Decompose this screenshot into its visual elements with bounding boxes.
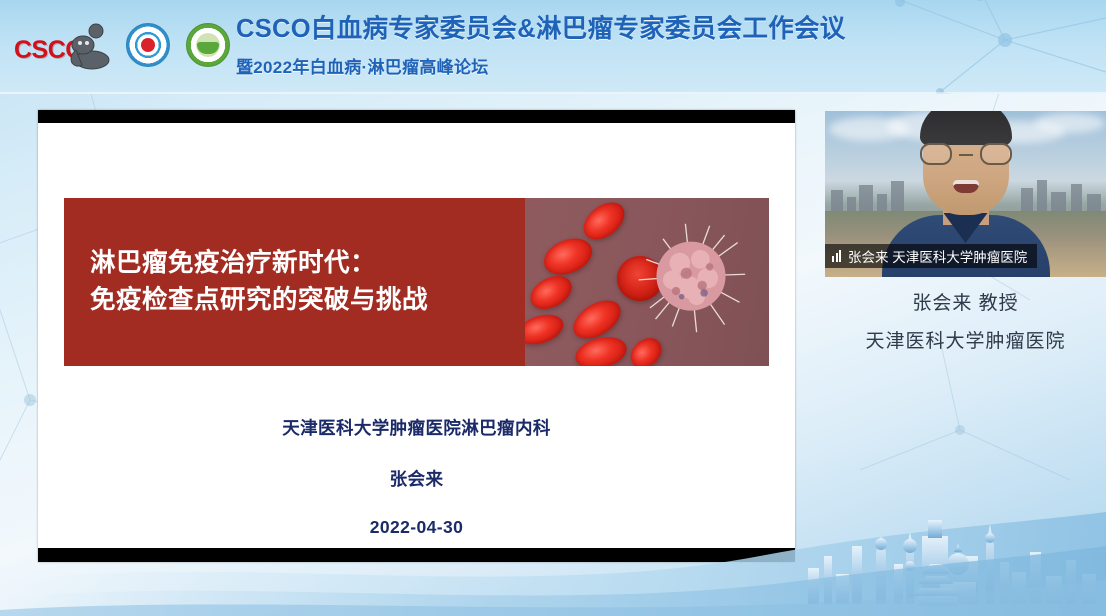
blood-cells-image (525, 198, 769, 366)
video-name-text: 张会来 天津医科大学肿瘤医院 (848, 246, 1027, 266)
committee-seal-blue-icon (126, 23, 170, 67)
header-title-block: CSCO白血病专家委员会&淋巴瘤专家委员会工作会议 暨2022年白血病·淋巴瘤高… (236, 14, 846, 78)
header-divider (0, 92, 1106, 94)
signal-bars-icon (832, 250, 841, 262)
logo-group: CSCO (14, 16, 230, 74)
slide-frame: 淋巴瘤免疫治疗新时代： 免疫检查点研究的突破与挑战 (38, 110, 795, 562)
csco-logo: CSCO (14, 16, 110, 74)
eyeglasses-right-icon (980, 143, 1012, 165)
conference-title: CSCO白血病专家委员会&淋巴瘤专家委员会工作会议 (236, 14, 846, 46)
speaker-video-panel[interactable]: 张会来 天津医科大学肿瘤医院 (825, 111, 1106, 277)
presentation-stage: CSCO CSCO白血病专家委员会&淋巴瘤专家委员会工作会议 (0, 0, 1106, 616)
conference-header: CSCO CSCO白血病专家委员会&淋巴瘤专家委员会工作会议 (0, 0, 1106, 94)
slide-date: 2022-04-30 (38, 517, 795, 538)
conference-subtitle: 暨2022年白血病·淋巴瘤高峰论坛 (236, 53, 846, 78)
eyeglasses-left-icon (920, 143, 952, 165)
temple-icon (912, 564, 960, 606)
tumor-cell-icon (635, 222, 747, 334)
slide-title: 淋巴瘤免疫治疗新时代： 免疫检查点研究的突破与挑战 (64, 245, 428, 319)
slide-title-banner: 淋巴瘤免疫治疗新时代： 免疫检查点研究的突破与挑战 (64, 198, 769, 366)
banner-text-area: 淋巴瘤免疫治疗新时代： 免疫检查点研究的突破与挑战 (64, 198, 525, 366)
slide-presenter: 张会来 (38, 466, 795, 491)
slide-footer: 天津医科大学肿瘤医院淋巴瘤内科 张会来 2022-04-30 (38, 415, 795, 538)
slide-organization: 天津医科大学肿瘤医院淋巴瘤内科 (38, 415, 795, 440)
speaker-affiliation: 天津医科大学肿瘤医院 (825, 326, 1106, 353)
city-buildings-group (808, 520, 1096, 604)
video-name-overlay: 张会来 天津医科大学肿瘤医院 (825, 244, 1037, 268)
committee-seal-green-icon (186, 23, 230, 67)
csco-mascot-icon (66, 20, 112, 72)
speaker-name: 张会来 教授 (825, 288, 1106, 315)
cathedral-icon (940, 544, 978, 604)
speaker-caption: 张会来 教授 天津医科大学肿瘤医院 (825, 288, 1106, 353)
